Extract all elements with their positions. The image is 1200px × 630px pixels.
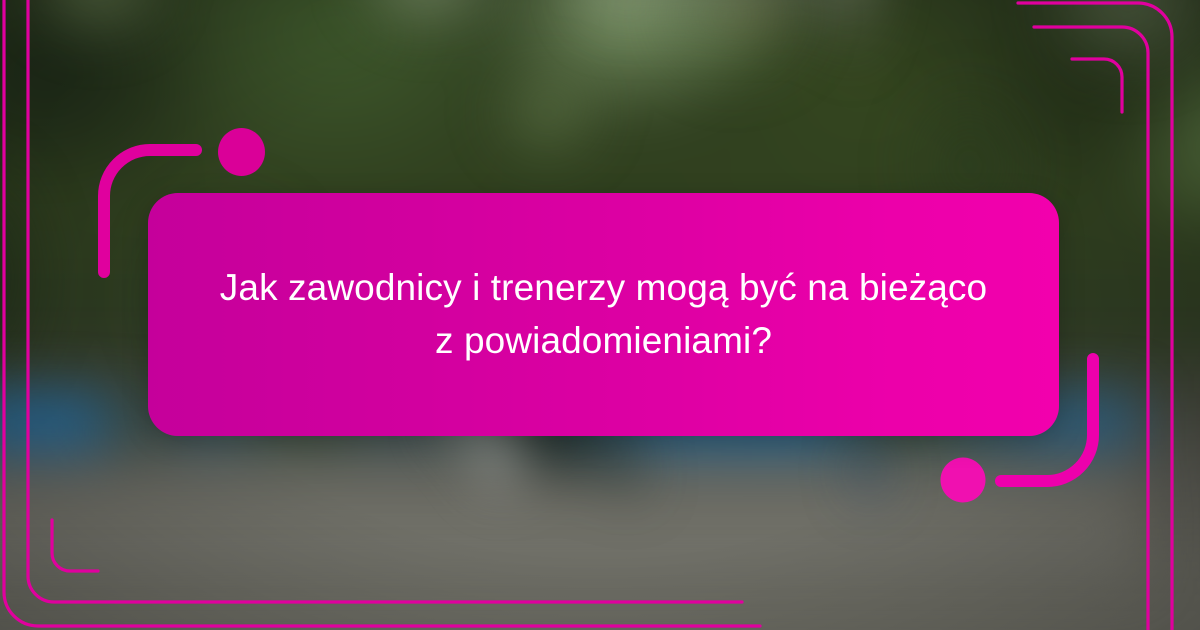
- quote-card: Jak zawodnicy i trenerzy mogą być na bie…: [148, 193, 1059, 436]
- quote-question-text: Jak zawodnicy i trenerzy mogą być na bie…: [220, 262, 987, 367]
- dot-top-left-icon: [218, 128, 265, 176]
- dot-bottom-right-icon: [941, 458, 986, 503]
